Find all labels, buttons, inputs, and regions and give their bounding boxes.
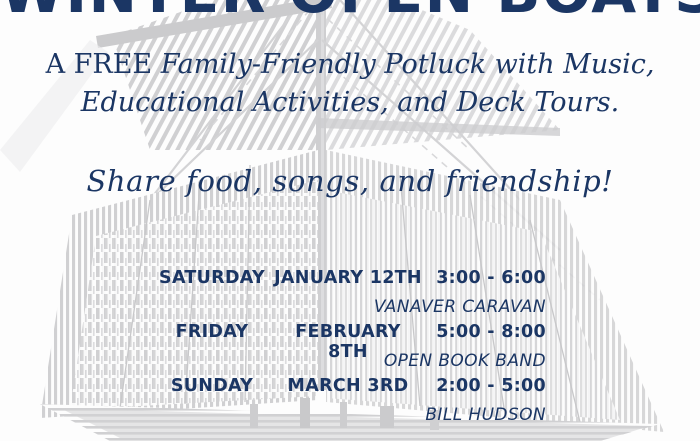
poster-canvas: WINTER OPEN BOATS A FREE Family-Friendly… — [0, 0, 700, 441]
event-schedule: SATURDAY JANUARY 12TH 3:00 - 6:00 VANAVE… — [150, 268, 546, 430]
schedule-time: 3:00 - 6:00 — [422, 268, 546, 288]
poster-subtitle: A FREE Family-Friendly Potluck with Musi… — [0, 46, 700, 122]
schedule-row: SUNDAY MARCH 3RD 2:00 - 5:00 — [150, 376, 546, 403]
page-title: WINTER OPEN BOATS — [0, 0, 700, 24]
poster-tagline: Share food, songs, and friendship! — [0, 164, 700, 198]
poster-content: WINTER OPEN BOATS A FREE Family-Friendly… — [0, 0, 700, 441]
schedule-time: 5:00 - 8:00 — [422, 322, 546, 342]
schedule-row: FRIDAY FEBRUARY 8TH 5:00 - 8:00 — [150, 322, 546, 349]
schedule-time: 2:00 - 5:00 — [422, 376, 546, 396]
schedule-date: MARCH 3RD — [274, 376, 422, 396]
schedule-day: SUNDAY — [150, 376, 274, 396]
subtitle-line-1: A FREE Family-Friendly Potluck with Musi… — [0, 46, 700, 84]
subtitle-line-2: Educational Activities, and Deck Tours. — [0, 84, 700, 122]
schedule-performer: BILL HUDSON — [150, 403, 546, 430]
subtitle-line-1-upright: A FREE — [46, 49, 161, 80]
schedule-performer: VANAVER CARAVAN — [150, 295, 546, 322]
schedule-day: FRIDAY — [150, 322, 274, 342]
schedule-date: JANUARY 12TH — [274, 268, 422, 288]
schedule-row: SATURDAY JANUARY 12TH 3:00 - 6:00 — [150, 268, 546, 295]
schedule-day: SATURDAY — [150, 268, 274, 288]
subtitle-line-1-italic: Family-Friendly Potluck with Music, — [161, 49, 655, 80]
subtitle-line-2-italic: Educational Activities, and Deck Tours. — [81, 87, 619, 118]
